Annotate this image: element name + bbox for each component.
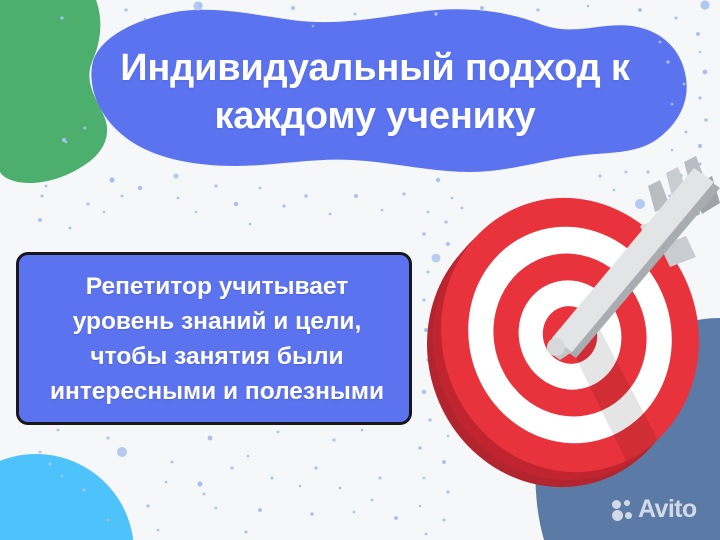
avito-logo-icon — [612, 499, 634, 521]
description-line-1: Репетитор учитывает — [5, 269, 429, 304]
promo-poster: Индивидуальный подход к каждому ученику … — [0, 0, 720, 540]
page-title: Индивидуальный подход к каждому ученику — [90, 44, 660, 140]
avito-wordmark: Avito — [638, 497, 697, 522]
description-line-4: интересными и полезными — [5, 374, 429, 409]
avito-watermark: Avito — [612, 497, 697, 522]
title-line-2: каждому ученику — [90, 92, 660, 140]
title-line-1: Индивидуальный подход к — [90, 44, 660, 92]
description-text: Репетитор учитывает уровень знаний и цел… — [5, 269, 429, 409]
description-card: Репетитор учитывает уровень знаний и цел… — [16, 252, 412, 425]
description-line-2: уровень знаний и цели, — [5, 304, 429, 339]
description-line-3: чтобы занятия были — [5, 339, 429, 374]
